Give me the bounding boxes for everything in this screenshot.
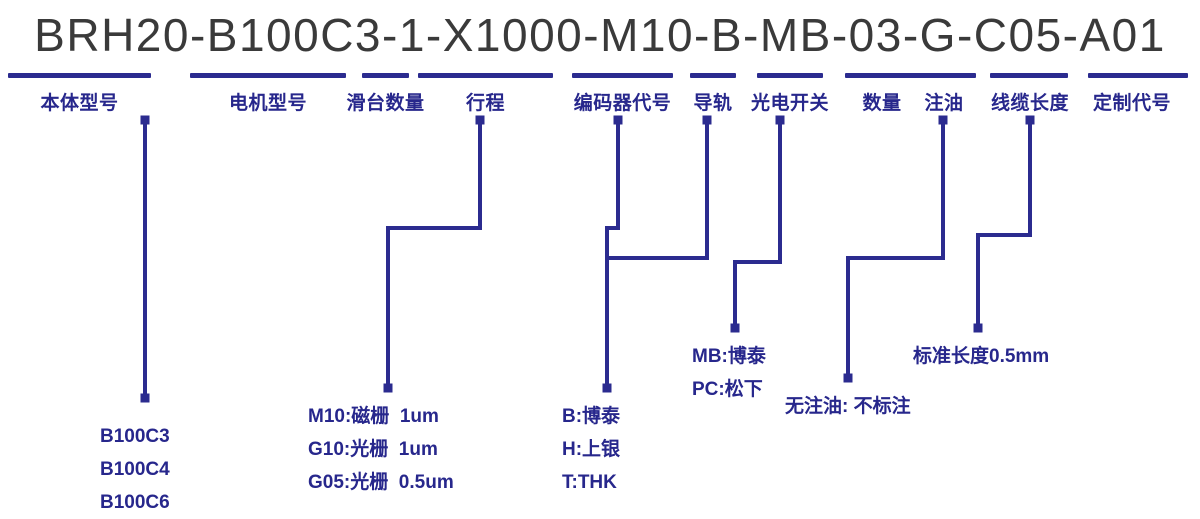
detail-line: M10:磁栅 1um [308,400,454,433]
segment-underline-body_model [8,73,151,78]
detail-line: G05:光栅 0.5um [308,466,454,499]
leader-encoder_code [603,116,623,393]
segment-underline-custom_code [1088,73,1188,78]
segment-underline-oiling [915,73,976,78]
detail-line: 标准长度0.5mm [913,340,1049,373]
leader-cable_length [974,116,1035,333]
segment-underline-photo_switch [757,73,823,78]
leader-start-marker-body_model [141,116,150,125]
leader-end-marker-photo_switch [731,324,740,333]
model-code-string: BRH20-B100C3-1-X1000-M10-B-MB-03-G-C05-A… [0,8,1200,62]
detail-line: T:THK [562,466,620,499]
segment-underline-slide_count [362,73,409,78]
detail-line: G10:光栅 1um [308,433,454,466]
leader-end-marker-oiling [844,374,853,383]
leader-path-encoder_code [607,120,618,388]
segment-label-stroke: 行程 [418,88,553,115]
detail-line: B100C6 [100,486,170,519]
segment-underline-motor_model [190,73,346,78]
segment-label-body_model: 本体型号 [8,88,151,115]
leader-start-marker-photo_switch [776,116,785,125]
model-code-diagram: BRH20-B100C3-1-X1000-M10-B-MB-03-G-C05-A… [0,0,1200,507]
detail-line: H:上银 [562,433,620,466]
leader-end-marker-encoder_code [603,384,612,393]
leader-start-marker-motor_model [476,116,485,125]
detail-line: 无注油: 不标注 [785,390,911,423]
leader-end-marker-motor_model [384,384,393,393]
detail-guide_rail_options: B:博泰H:上银T:THK [562,400,620,499]
segment-underline-encoder_code [572,73,673,78]
detail-encoder_options: M10:磁栅 1umG10:光栅 1umG05:光栅 0.5um [308,400,454,499]
leader-end-marker-guide_rail [603,384,612,393]
leader-start-marker-encoder_code [614,116,623,125]
segment-underline-cable_length [990,73,1068,78]
detail-line: B:博泰 [562,400,620,433]
leader-path-motor_model [388,120,480,388]
detail-line: PC:松下 [692,373,766,406]
leader-start-marker-cable_length [1026,116,1035,125]
leader-body_model [141,116,150,403]
leader-start-marker-oiling [939,116,948,125]
leader-path-cable_length [978,120,1030,328]
leader-motor_model [384,116,485,393]
detail-body_model_options: B100C3B100C4B100C6 [100,420,170,519]
detail-cable_length_options: 标准长度0.5mm [913,340,1049,373]
segment-label-custom_code: 定制代号 [1064,88,1200,115]
segment-underline-guide_rail [690,73,736,78]
detail-line: MB:博泰 [692,340,766,373]
segment-underline-quantity [845,73,918,78]
segment-underline-stroke [418,73,553,78]
leader-start-marker-guide_rail [703,116,712,125]
detail-oiling_options: 无注油: 不标注 [785,390,911,423]
detail-photo_switch_options: MB:博泰PC:松下 [692,340,766,406]
leader-photo_switch [731,116,785,333]
detail-line: B100C4 [100,453,170,486]
leader-path-photo_switch [735,120,780,328]
leader-end-marker-cable_length [974,324,983,333]
leader-end-marker-body_model [141,394,150,403]
detail-line: B100C3 [100,420,170,453]
